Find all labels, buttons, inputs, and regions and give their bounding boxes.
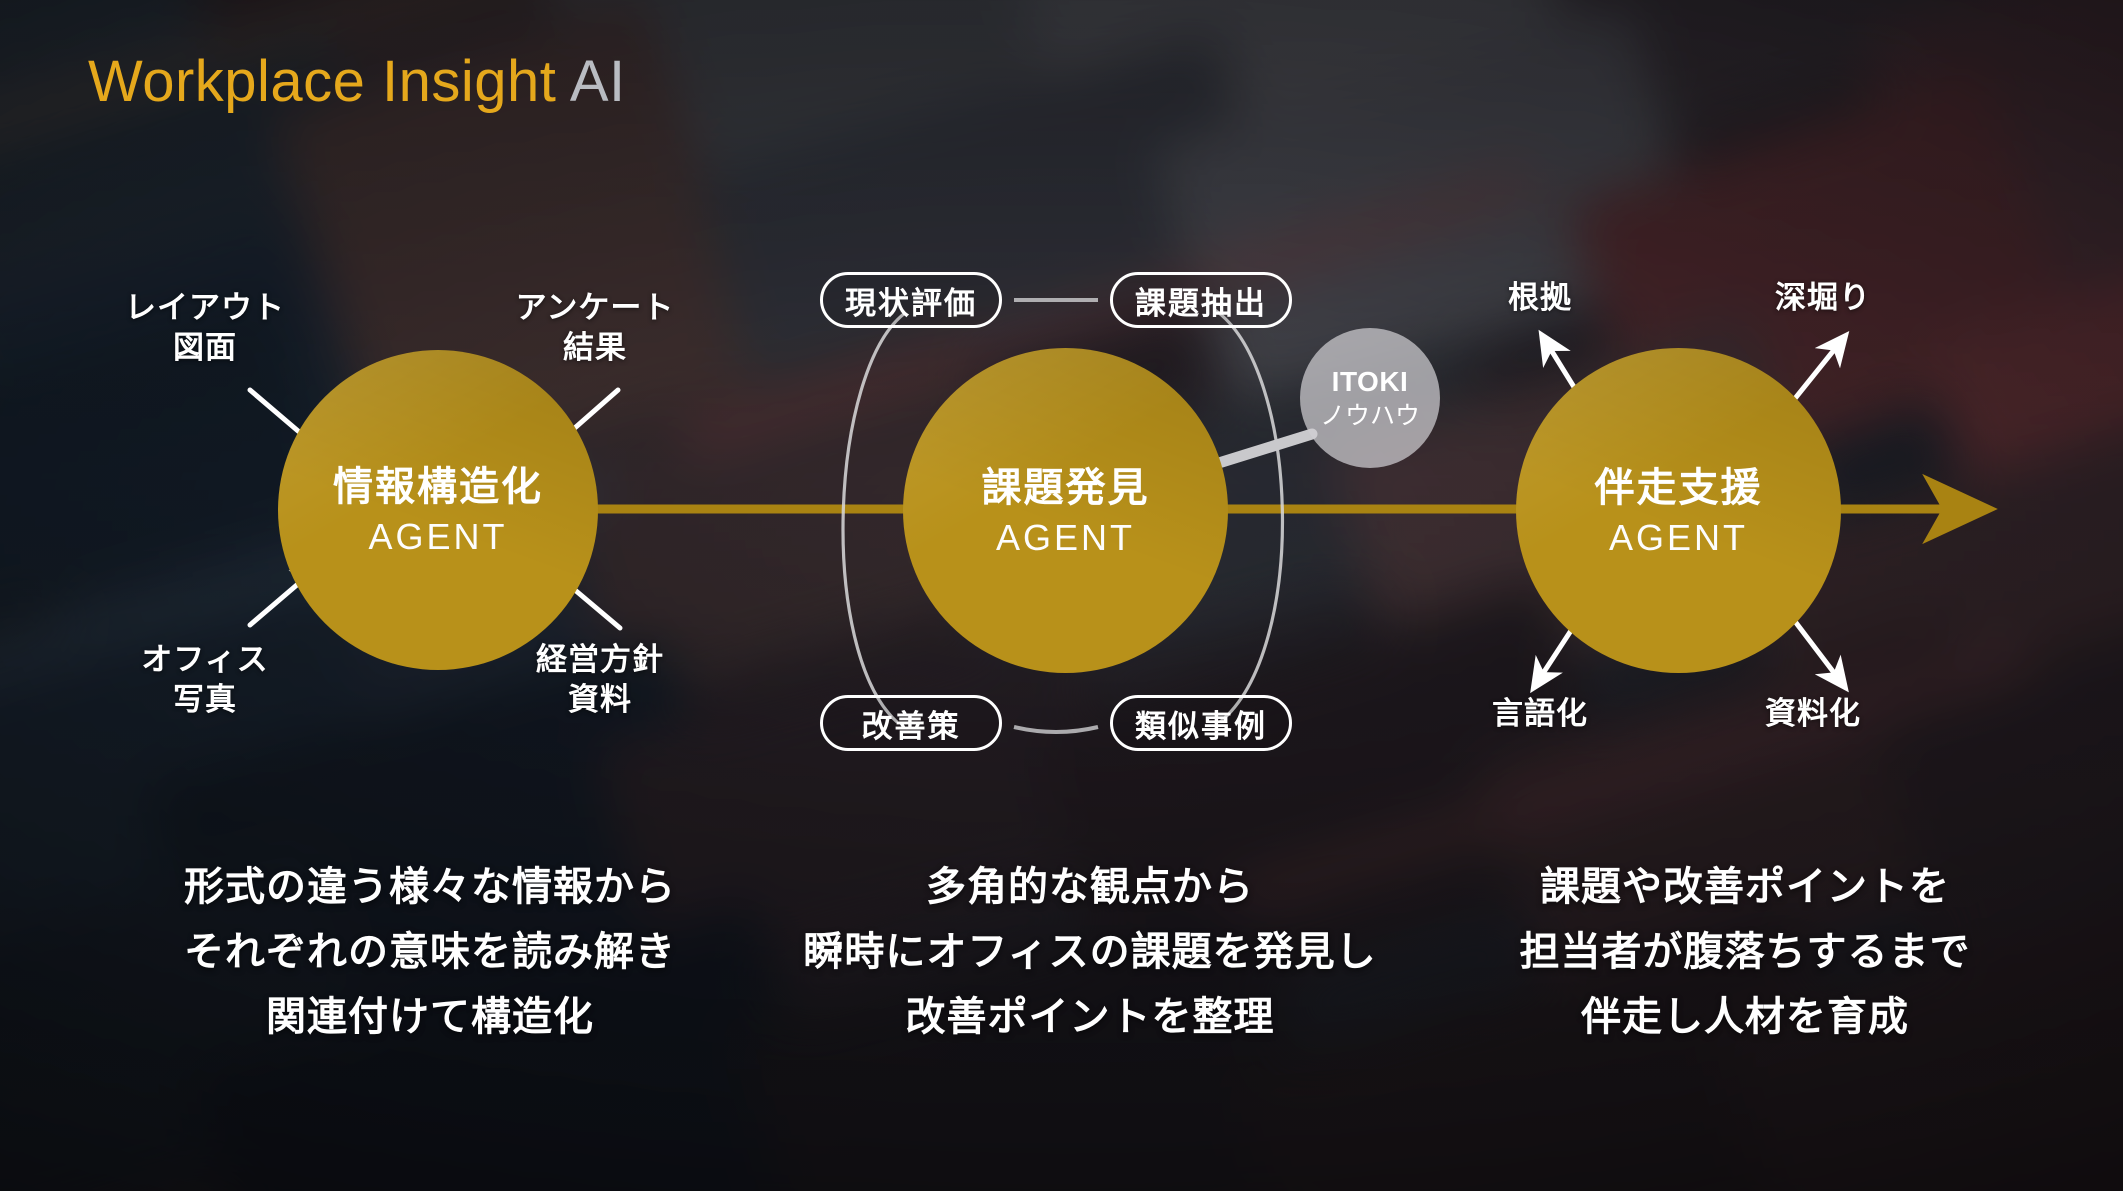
output-label-documentation: 資料化 bbox=[1728, 694, 1898, 734]
pill-issue-extraction[interactable]: 課題抽出 bbox=[1110, 272, 1292, 328]
itoki-badge-name: ITOKI bbox=[1332, 364, 1409, 400]
input-label-layout-drawing: レイアウト 図面 bbox=[110, 288, 300, 369]
input-label-survey-results: アンケート 結果 bbox=[500, 288, 690, 369]
agent1-title-en: AGENT bbox=[368, 516, 507, 558]
output-label-evidence: 根拠 bbox=[1455, 278, 1625, 318]
itoki-connector-line bbox=[1222, 434, 1312, 462]
caption-accompaniment-support: 課題や改善ポイントを 担当者が腹落ちするまで 伴走し人材を育成 bbox=[1425, 855, 2065, 1049]
agent-circle-information-structuring[interactable]: 情報構造化 AGENT bbox=[278, 350, 598, 670]
agent-circle-issue-discovery[interactable]: 課題発見 AGENT bbox=[903, 348, 1228, 673]
pill-current-state-evaluation[interactable]: 現状評価 bbox=[820, 272, 1002, 328]
itoki-knowhow-badge[interactable]: ITOKI ノウハウ bbox=[1300, 328, 1440, 468]
slide-canvas: Workplace Insight AI bbox=[0, 0, 2123, 1191]
agent2-title-jp: 課題発見 bbox=[982, 463, 1150, 513]
agent3-title-jp: 伴走支援 bbox=[1595, 463, 1763, 513]
output-label-deep-dive: 深堀り bbox=[1728, 278, 1918, 318]
output-label-verbalization: 言語化 bbox=[1455, 694, 1625, 734]
caption-issue-discovery: 多角的な観点から 瞬時にオフィスの課題を発見し 改善ポイントを整理 bbox=[760, 855, 1420, 1049]
input-label-office-photo: オフィス 写真 bbox=[110, 640, 300, 721]
pill-improvement-measures[interactable]: 改善策 bbox=[820, 695, 1002, 751]
agent-circle-accompaniment-support[interactable]: 伴走支援 AGENT bbox=[1516, 348, 1841, 673]
itoki-badge-subtitle: ノウハウ bbox=[1320, 400, 1420, 433]
input-label-management-policy-docs: 経営方針 資料 bbox=[500, 640, 700, 721]
caption-information-structuring: 形式の違う様々な情報から それぞれの意味を読み解き 関連付けて構造化 bbox=[110, 855, 750, 1049]
agent2-title-en: AGENT bbox=[996, 517, 1135, 559]
agent3-title-en: AGENT bbox=[1609, 517, 1748, 559]
agent1-title-jp: 情報構造化 bbox=[333, 462, 543, 512]
pill-similar-cases[interactable]: 類似事例 bbox=[1110, 695, 1292, 751]
